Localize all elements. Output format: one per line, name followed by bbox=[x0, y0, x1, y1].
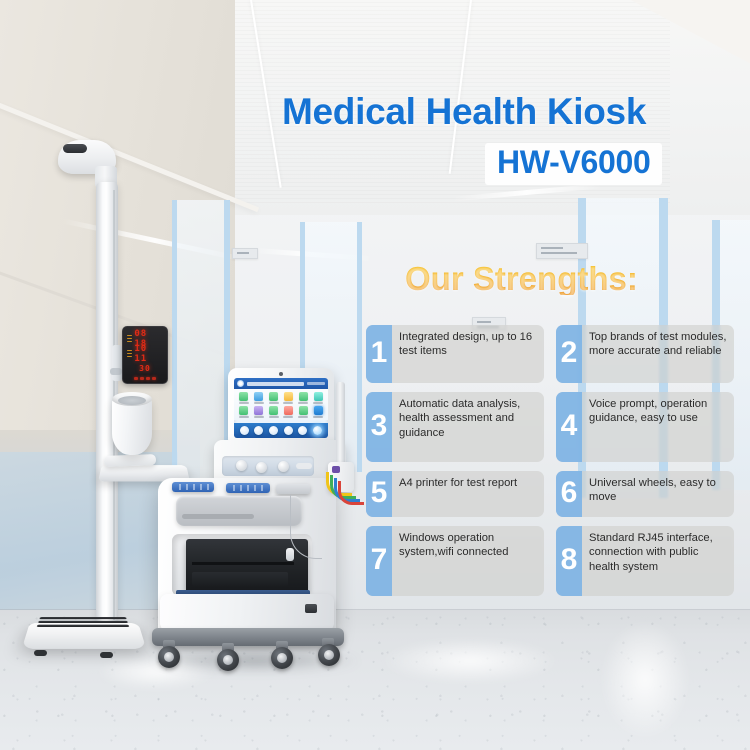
module-knob-2[interactable] bbox=[256, 462, 267, 473]
screen-header-bar bbox=[234, 378, 328, 389]
test-item-icon-2[interactable] bbox=[252, 392, 266, 404]
screen-button-bar[interactable] bbox=[234, 423, 328, 438]
features-row-4: 7 Windows operation system,wifi connecte… bbox=[366, 526, 734, 596]
camera-icon bbox=[279, 372, 283, 376]
feature-number-4: 4 bbox=[556, 392, 582, 462]
led-value-3: 30 bbox=[139, 364, 151, 373]
module-knob-1[interactable] bbox=[236, 460, 247, 471]
feature-number-1: 1 bbox=[366, 325, 392, 383]
column-bracket bbox=[112, 345, 122, 381]
test-item-icon-5[interactable] bbox=[296, 392, 310, 404]
led-row-weight: 10 11 bbox=[127, 347, 163, 360]
drawer-handle[interactable] bbox=[182, 514, 254, 519]
led-row-bmi: 30 bbox=[127, 362, 163, 375]
universal-wheel-2 bbox=[217, 649, 239, 671]
screen-clock-placeholder bbox=[307, 382, 325, 385]
universal-wheel-3 bbox=[271, 647, 293, 669]
model-number: HW-V6000 bbox=[497, 146, 650, 180]
led-value-2: 10 11 bbox=[134, 344, 163, 364]
module-knob-3[interactable] bbox=[278, 461, 289, 472]
led-label-icon-2 bbox=[127, 350, 132, 358]
app-logo-icon bbox=[237, 380, 244, 387]
strengths-heading: Our Strengths: bbox=[405, 262, 638, 295]
tray-arm bbox=[104, 454, 156, 467]
scale-electrode-surface bbox=[27, 616, 141, 631]
test-item-icon-3[interactable] bbox=[267, 392, 281, 404]
feature-text-8: Standard RJ45 interface, connection with… bbox=[582, 526, 734, 596]
test-item-icon-6[interactable] bbox=[311, 392, 325, 404]
feature-text-7: Windows operation system,wifi connected bbox=[392, 526, 544, 596]
test-item-icon-4[interactable] bbox=[281, 392, 295, 404]
cart-handle-bar bbox=[276, 484, 310, 494]
feature-card-5: 5 A4 printer for test report bbox=[366, 471, 544, 517]
cart-latch[interactable] bbox=[305, 604, 317, 613]
feature-text-3: Automatic data analysis, health assessme… bbox=[392, 392, 544, 462]
printer-paper-slot bbox=[192, 562, 294, 565]
column-bracket-bolt bbox=[110, 368, 122, 375]
cup-inner bbox=[118, 396, 146, 405]
printer-output-tray bbox=[192, 572, 288, 586]
universal-wheel-4 bbox=[318, 644, 340, 666]
feature-card-4: 4 Voice prompt, operation guidance, easy… bbox=[556, 392, 734, 462]
test-item-grid[interactable] bbox=[234, 389, 328, 420]
test-item-icon-7[interactable] bbox=[237, 406, 251, 418]
scale-electrode-1 bbox=[39, 617, 126, 619]
feature-card-3: 3 Automatic data analysis, health assess… bbox=[366, 392, 544, 462]
handheld-probe bbox=[286, 548, 294, 561]
feature-number-8: 8 bbox=[556, 526, 582, 596]
feature-number-6: 6 bbox=[556, 471, 582, 517]
test-item-icon-10[interactable] bbox=[281, 406, 295, 418]
features-row-3: 5 A4 printer for test report 6 Universal… bbox=[366, 471, 734, 517]
model-badge: HW-V6000 bbox=[485, 143, 662, 185]
feature-number-5: 5 bbox=[366, 471, 392, 517]
features-row-1: 1 Integrated design, up to 16 test items… bbox=[366, 325, 734, 383]
feature-text-2: Top brands of test modules, more accurat… bbox=[582, 325, 734, 383]
screen-title-placeholder bbox=[247, 382, 304, 386]
floor-reflection-1 bbox=[380, 638, 560, 684]
cart-drawer[interactable] bbox=[176, 496, 302, 526]
features-row-2: 3 Automatic data analysis, health assess… bbox=[366, 392, 734, 462]
feature-text-6: Universal wheels, easy to move bbox=[582, 471, 734, 517]
floor-reflection-2 bbox=[600, 620, 690, 740]
ecg-lead-red bbox=[338, 481, 364, 505]
test-item-icon-1[interactable] bbox=[237, 392, 251, 404]
scale-electrode-2 bbox=[38, 621, 128, 623]
ultrasonic-sensor-icon bbox=[63, 144, 87, 153]
led-display-panel: 08 18 10 11 30 bbox=[122, 326, 168, 384]
feature-number-2: 2 bbox=[556, 325, 582, 383]
led-label-icon-1 bbox=[127, 335, 132, 343]
cart-handle-left[interactable] bbox=[172, 482, 214, 492]
cart-chassis bbox=[152, 628, 344, 646]
test-item-icon-9[interactable] bbox=[267, 406, 281, 418]
feature-card-1: 1 Integrated design, up to 16 test items bbox=[366, 325, 544, 383]
screen-nav-button-4[interactable] bbox=[284, 426, 293, 435]
feature-text-1: Integrated design, up to 16 test items bbox=[392, 325, 544, 383]
cart-handle-right[interactable] bbox=[226, 483, 270, 493]
feature-card-7: 7 Windows operation system,wifi connecte… bbox=[366, 526, 544, 596]
feature-card-2: 2 Top brands of test modules, more accur… bbox=[556, 325, 734, 383]
features-list: 1 Integrated design, up to 16 test items… bbox=[366, 325, 734, 605]
door-sign-3 bbox=[232, 248, 258, 259]
feature-number-7: 7 bbox=[366, 526, 392, 596]
feature-text-4: Voice prompt, operation guidance, easy t… bbox=[582, 392, 734, 462]
feature-card-6: 6 Universal wheels, easy to move bbox=[556, 471, 734, 517]
kiosk-touchscreen[interactable] bbox=[234, 378, 328, 438]
universal-wheel-1 bbox=[158, 646, 180, 668]
module-tube bbox=[296, 463, 312, 469]
test-item-icon-8[interactable] bbox=[252, 406, 266, 418]
scale-electrode-3 bbox=[37, 625, 130, 627]
test-item-icon-11[interactable] bbox=[296, 406, 310, 418]
screen-nav-button-2[interactable] bbox=[254, 426, 263, 435]
screen-nav-button-6-active[interactable] bbox=[313, 426, 322, 435]
door-sign-1 bbox=[536, 243, 588, 259]
feature-text-5: A4 printer for test report bbox=[392, 471, 544, 517]
led-indicator-dots bbox=[127, 377, 163, 380]
page-title: Medical Health Kiosk bbox=[282, 93, 646, 130]
test-item-icon-12-selected[interactable] bbox=[311, 406, 325, 418]
product-banner: 08 18 10 11 30 bbox=[0, 0, 750, 750]
screen-nav-button-1[interactable] bbox=[240, 426, 249, 435]
screen-nav-button-3[interactable] bbox=[269, 426, 278, 435]
screen-nav-button-5[interactable] bbox=[298, 426, 307, 435]
feature-number-3: 3 bbox=[366, 392, 392, 462]
feature-card-8: 8 Standard RJ45 interface, connection wi… bbox=[556, 526, 734, 596]
